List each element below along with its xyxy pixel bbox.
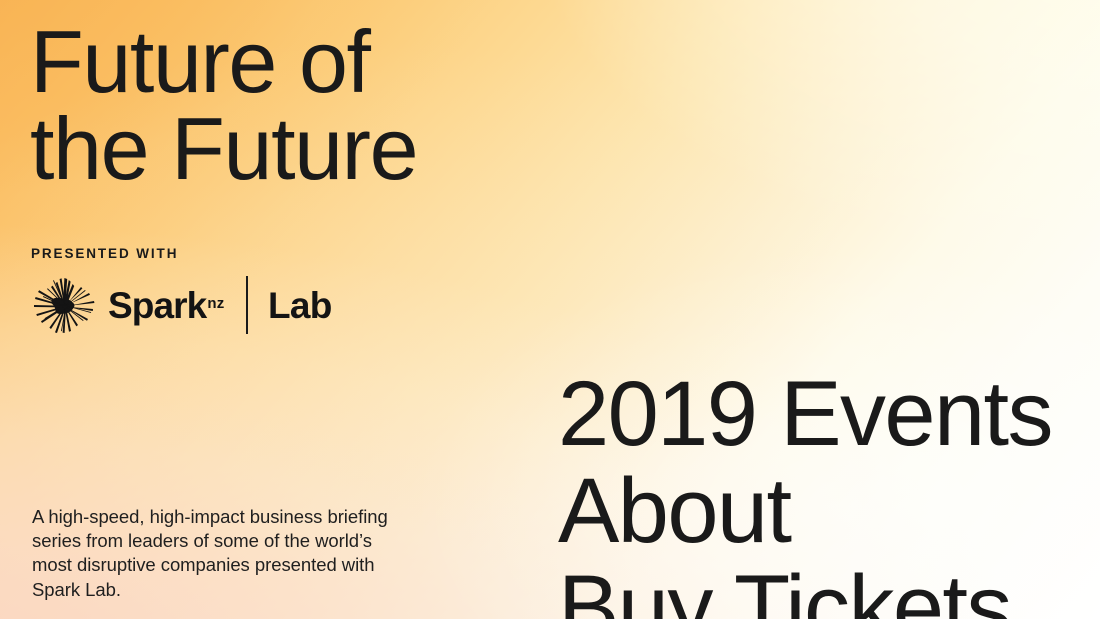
page-content: Future of the Future PRESENTED WITH [0, 0, 1100, 619]
spark-nz-superscript: nz [207, 296, 224, 311]
landing-page: Future of the Future PRESENTED WITH [0, 0, 1100, 619]
spark-wordmark: Spark nz [108, 287, 224, 324]
spark-brand-text: Spark [108, 287, 206, 324]
nav-link-about[interactable]: About [558, 463, 1052, 560]
presented-with-label: PRESENTED WITH [31, 246, 332, 261]
hero-block: Future of the Future [30, 18, 550, 192]
page-title: Future of the Future [30, 18, 550, 192]
logo-divider [246, 276, 248, 334]
nav-link-buy-tickets[interactable]: Buy Tickets [558, 560, 1052, 619]
spark-starburst-icon [31, 275, 97, 335]
spark-lab-logo[interactable]: Spark nz Lab [31, 275, 332, 335]
main-navigation: 2019 Events About Buy Tickets [558, 366, 1052, 619]
lab-brand-text: Lab [268, 287, 332, 324]
presented-with-block: PRESENTED WITH [31, 246, 332, 335]
hero-description: A high-speed, high-impact business brief… [32, 505, 402, 602]
nav-link-2019-events[interactable]: 2019 Events [558, 366, 1052, 463]
